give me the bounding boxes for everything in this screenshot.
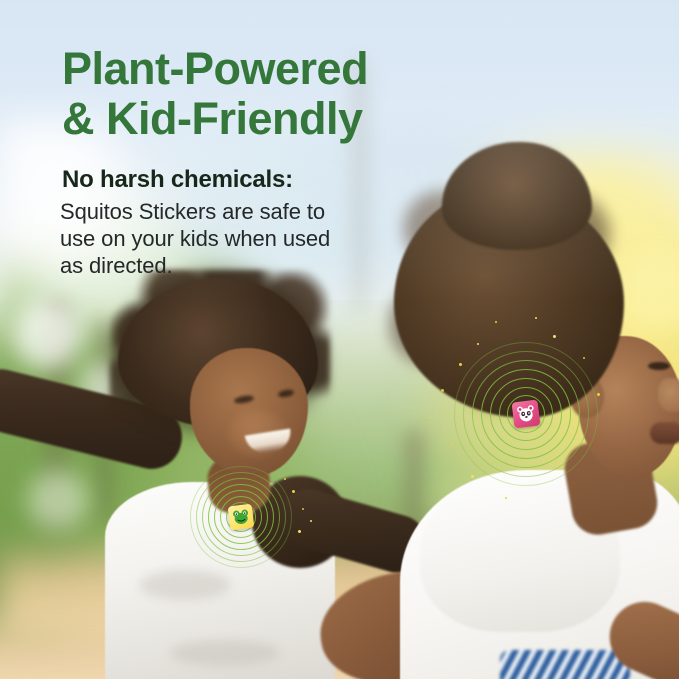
body-line-2: use on your kids when used: [60, 225, 380, 252]
sparkle-particle: [441, 389, 444, 392]
sparkle-particle: [284, 478, 286, 480]
sparkle-particle: [553, 335, 556, 338]
product-lifestyle-banner: Plant-Powered & Kid-Friendly No harsh ch…: [0, 0, 679, 679]
sparkle-particle: [459, 363, 462, 366]
sparkle-particle: [477, 343, 479, 345]
sparkle-particle: [597, 393, 600, 396]
sparkle-particle: [298, 530, 301, 533]
panda-icon: [515, 403, 537, 425]
page-title: Plant-Powered & Kid-Friendly: [62, 44, 482, 144]
headline-line-1: Plant-Powered: [62, 44, 482, 94]
open-mouth: [650, 422, 679, 444]
sparkle-particle: [495, 321, 497, 323]
sparkle-particle: [310, 520, 312, 522]
body-copy: Squitos Stickers are safe to use on your…: [60, 198, 380, 279]
sticker-ripple-left: [240, 516, 242, 518]
sparkle-particle: [302, 508, 304, 510]
eye: [648, 362, 670, 370]
frog-icon: [231, 507, 251, 527]
sparkle-particle: [505, 497, 507, 499]
striped-shorts: [500, 650, 630, 679]
sticker-right-child[interactable]: [512, 400, 541, 429]
sparkle-particle: [535, 317, 537, 319]
child-right: [370, 140, 679, 679]
sticker-left-child[interactable]: [228, 504, 255, 531]
sparkle-particle: [425, 419, 427, 421]
sparkle-particle: [292, 490, 295, 493]
subheading: No harsh chemicals:: [62, 165, 293, 195]
sparkle-particle: [583, 357, 585, 359]
nose: [658, 378, 679, 412]
sticker-ripple-right: [525, 413, 527, 415]
shirt-fold: [140, 570, 230, 600]
body-line-3: as directed.: [60, 252, 380, 279]
body-line-1: Squitos Stickers are safe to: [60, 198, 380, 225]
sparkle-particle: [451, 443, 453, 445]
headline-line-2: & Kid-Friendly: [62, 94, 482, 144]
shirt-fold: [170, 640, 280, 666]
sparkle-particle: [471, 475, 474, 478]
